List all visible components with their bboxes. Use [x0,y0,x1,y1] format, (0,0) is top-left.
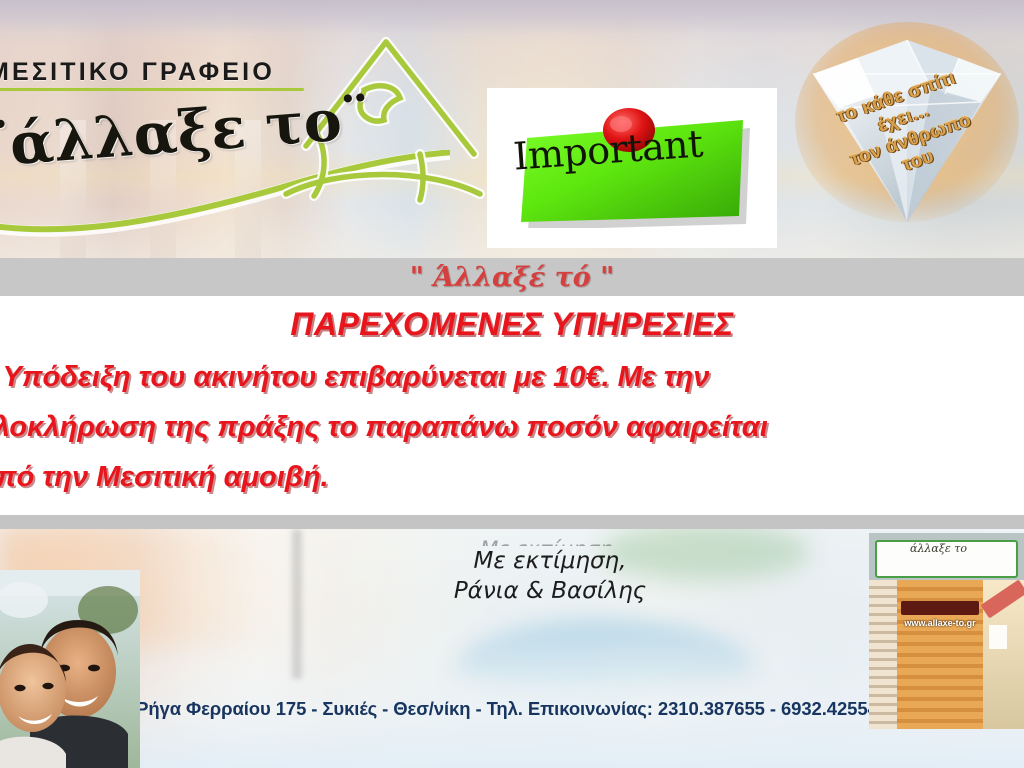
diamond-icon [795,22,1020,237]
storefront-sign-text: άλλαξε το [869,542,1008,555]
important-note-card: Important [487,88,777,248]
services-heading: ΠΑΡΕΧΟΜΕΝΕΣ ΥΠΗΡΕΣΙΕΣ [0,306,1024,343]
storefront-left-listings [869,580,897,729]
gray-divider-band-2 [0,515,1024,529]
brand-subtitle: " Άλλαξέ τό " [0,258,1024,296]
signature-line-2: Ράνια & Βασίλης [454,578,646,604]
storefront-photo: www.allaxe-to.gr άλλαξε το [869,533,1024,729]
footer-photo-blur-post [292,529,302,679]
signature-cut-line: Με εκτίμηση, [400,534,700,546]
storefront-notice-paper [989,625,1007,649]
signature-block: Με εκτίμηση, Με εκτίμηση, Ράνια & Βασίλη… [400,534,700,606]
footer-photo-blur-boat [455,619,755,689]
important-note-label: Important [487,88,733,220]
flyer-poster: ΜΕΣΙΤΙΚΟ ΓΡΑΦΕΙΟ ¨άλλαξε το¨ [0,0,1024,768]
storefront-website-text: www.allaxe-to.gr [897,618,983,628]
services-paragraph-line-1: Η Υπόδειξη του ακινήτου επιβαρύνεται με … [0,352,1024,402]
signature-line-1: Με εκτίμηση, [474,548,627,574]
header-banner: ΜΕΣΙΤΙΚΟ ΓΡΑΦΕΙΟ ¨άλλαξε το¨ [0,0,1024,258]
storefront-banner [901,601,979,615]
services-paragraph: Η Υπόδειξη του ακινήτου επιβαρύνεται με … [0,352,1024,502]
couple-photo [0,570,140,768]
services-paragraph-line-3: από την Μεσιτική αμοιβή. [0,452,1024,502]
services-paragraph-line-2: ολοκλήρωση της πράξης το παραπάνω ποσόν … [0,402,1024,452]
logo-underline [0,88,304,91]
logo-subtitle-text: ΜΕΣΙΤΙΚΟ ΓΡΑΦΕΙΟ [0,58,318,87]
